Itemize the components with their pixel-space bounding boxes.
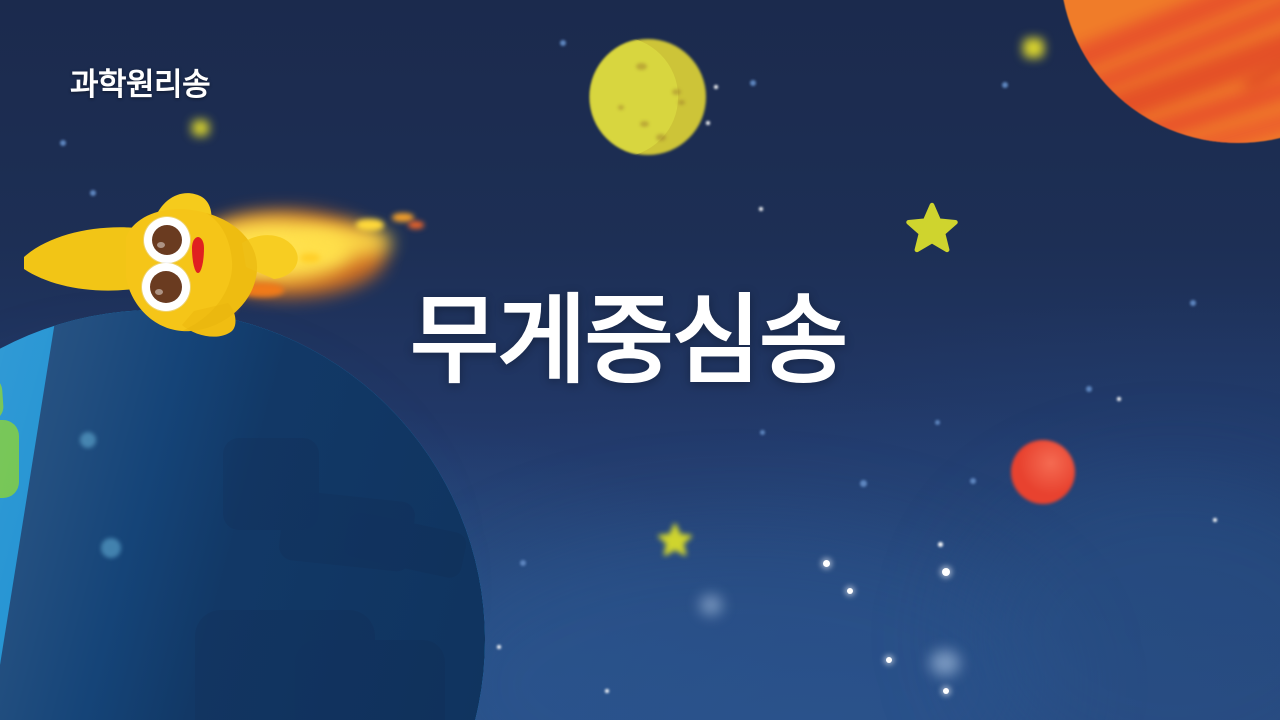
rocket-eye-upper (144, 217, 190, 263)
earth-sparkle (80, 432, 96, 448)
moon-crater (678, 100, 685, 105)
moon-crater (636, 63, 647, 70)
moon-crater (640, 121, 649, 127)
moon-crater (672, 89, 681, 95)
rocket-eye-lower (142, 263, 190, 311)
rocket-character (0, 175, 460, 355)
page-title: 무게중심송 (410, 289, 846, 394)
red-planet (1011, 440, 1075, 504)
earth-sparkle (101, 538, 121, 558)
program-logo: 과학원리송 (70, 59, 210, 104)
title-card-scene: 과학원리송 무게중심송 (0, 0, 1280, 720)
moon-crater (618, 105, 624, 110)
rocket-pupil-lower (150, 271, 182, 303)
rocket-spark (356, 219, 384, 231)
moon-crater (656, 134, 666, 141)
moon (590, 39, 706, 155)
rocket-pupil-upper (152, 225, 182, 255)
rocket-spark (408, 221, 424, 229)
